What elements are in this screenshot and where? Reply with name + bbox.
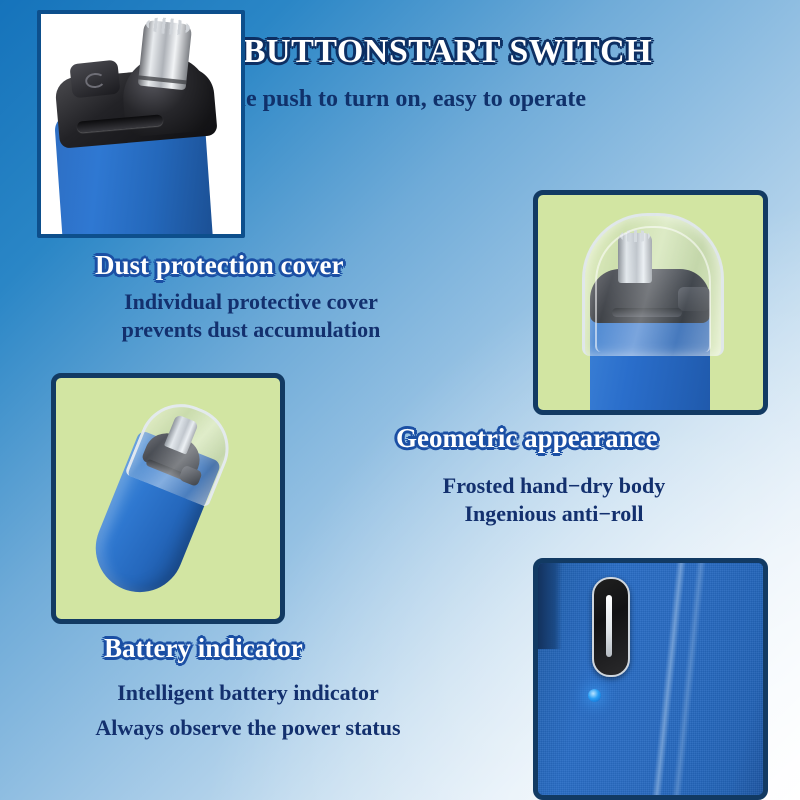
feature-body-line1-battery-indicator: Intelligent battery indicator xyxy=(66,679,430,707)
photo-full-trimmer-diagonal xyxy=(51,373,285,624)
feature-body-line1-geometric-appearance: Frosted hand−dry body xyxy=(396,472,712,500)
battery-indicator-led-icon xyxy=(588,689,601,702)
power-button-icon xyxy=(69,60,120,99)
feature-body-line2-battery-indicator: Always observe the power status xyxy=(66,714,430,742)
trimmer-illustration xyxy=(56,378,280,619)
feature-body-line1-dust-protection-cover: Individual protective cover xyxy=(96,288,406,316)
power-button-icon xyxy=(592,577,630,677)
product-feature-poster: ONE−BUTTONSTART SWITCH One push to turn … xyxy=(0,0,800,800)
transparent-dust-cap xyxy=(582,213,724,356)
feature-heading-battery-indicator: Battery indicator xyxy=(104,631,303,665)
photo-power-button-led-macro xyxy=(533,558,768,800)
frosted-blue-surface xyxy=(538,563,763,795)
photo-trimmer-with-dust-cap xyxy=(533,190,768,415)
feature-body-line2-dust-protection-cover: prevents dust accumulation xyxy=(96,316,406,344)
photo-trimmer-head-closeup xyxy=(37,10,245,238)
feature-body-line2-geometric-appearance: Ingenious anti−roll xyxy=(396,500,712,528)
trimmer-blade-head xyxy=(138,20,193,91)
body-shadow-edge xyxy=(538,563,562,649)
feature-heading-geometric-appearance: Geometric appearance xyxy=(396,421,658,455)
trimmer-unit xyxy=(82,391,237,606)
feature-heading-dust-protection-cover: Dust protection cover xyxy=(95,248,343,282)
